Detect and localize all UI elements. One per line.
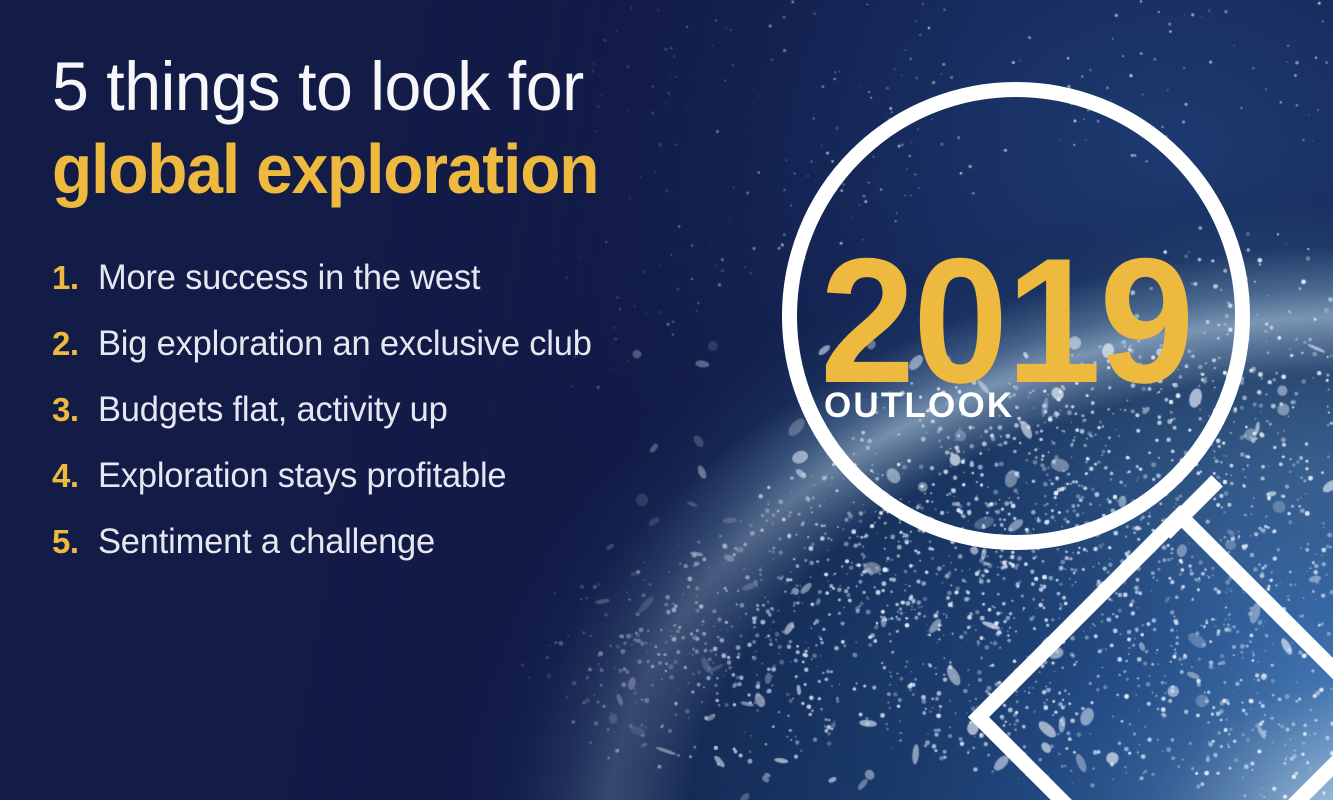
infographic-canvas: 5 things to look for global exploration … [0,0,1333,800]
list-item-label: Big exploration an exclusive club [98,324,592,364]
page-title-line-1: 5 things to look for [52,52,724,121]
list-item: 3. Budgets flat, activity up [52,390,752,456]
list-item-number: 4. [52,457,98,495]
key-points-list: 1. More success in the west 2. Big explo… [52,258,752,588]
list-item: 2. Big exploration an exclusive club [52,324,752,390]
page-title-line-2: global exploration [52,133,710,206]
list-item: 5. Sentiment a challenge [52,522,752,588]
list-item-label: More success in the west [98,258,480,298]
list-item-label: Budgets flat, activity up [98,390,448,430]
outlook-year: 2019 [820,232,1192,410]
list-item: 1. More success in the west [52,258,752,324]
list-item: 4. Exploration stays profitable [52,456,752,522]
list-item-label: Sentiment a challenge [98,522,435,562]
list-item-number: 3. [52,391,98,429]
headline-panel: 5 things to look for global exploration … [52,52,752,604]
outlook-label: OUTLOOK [824,388,1014,423]
list-item-number: 5. [52,523,98,561]
list-item-number: 2. [52,325,98,363]
list-item-number: 1. [52,259,98,297]
list-item-label: Exploration stays profitable [98,456,506,496]
